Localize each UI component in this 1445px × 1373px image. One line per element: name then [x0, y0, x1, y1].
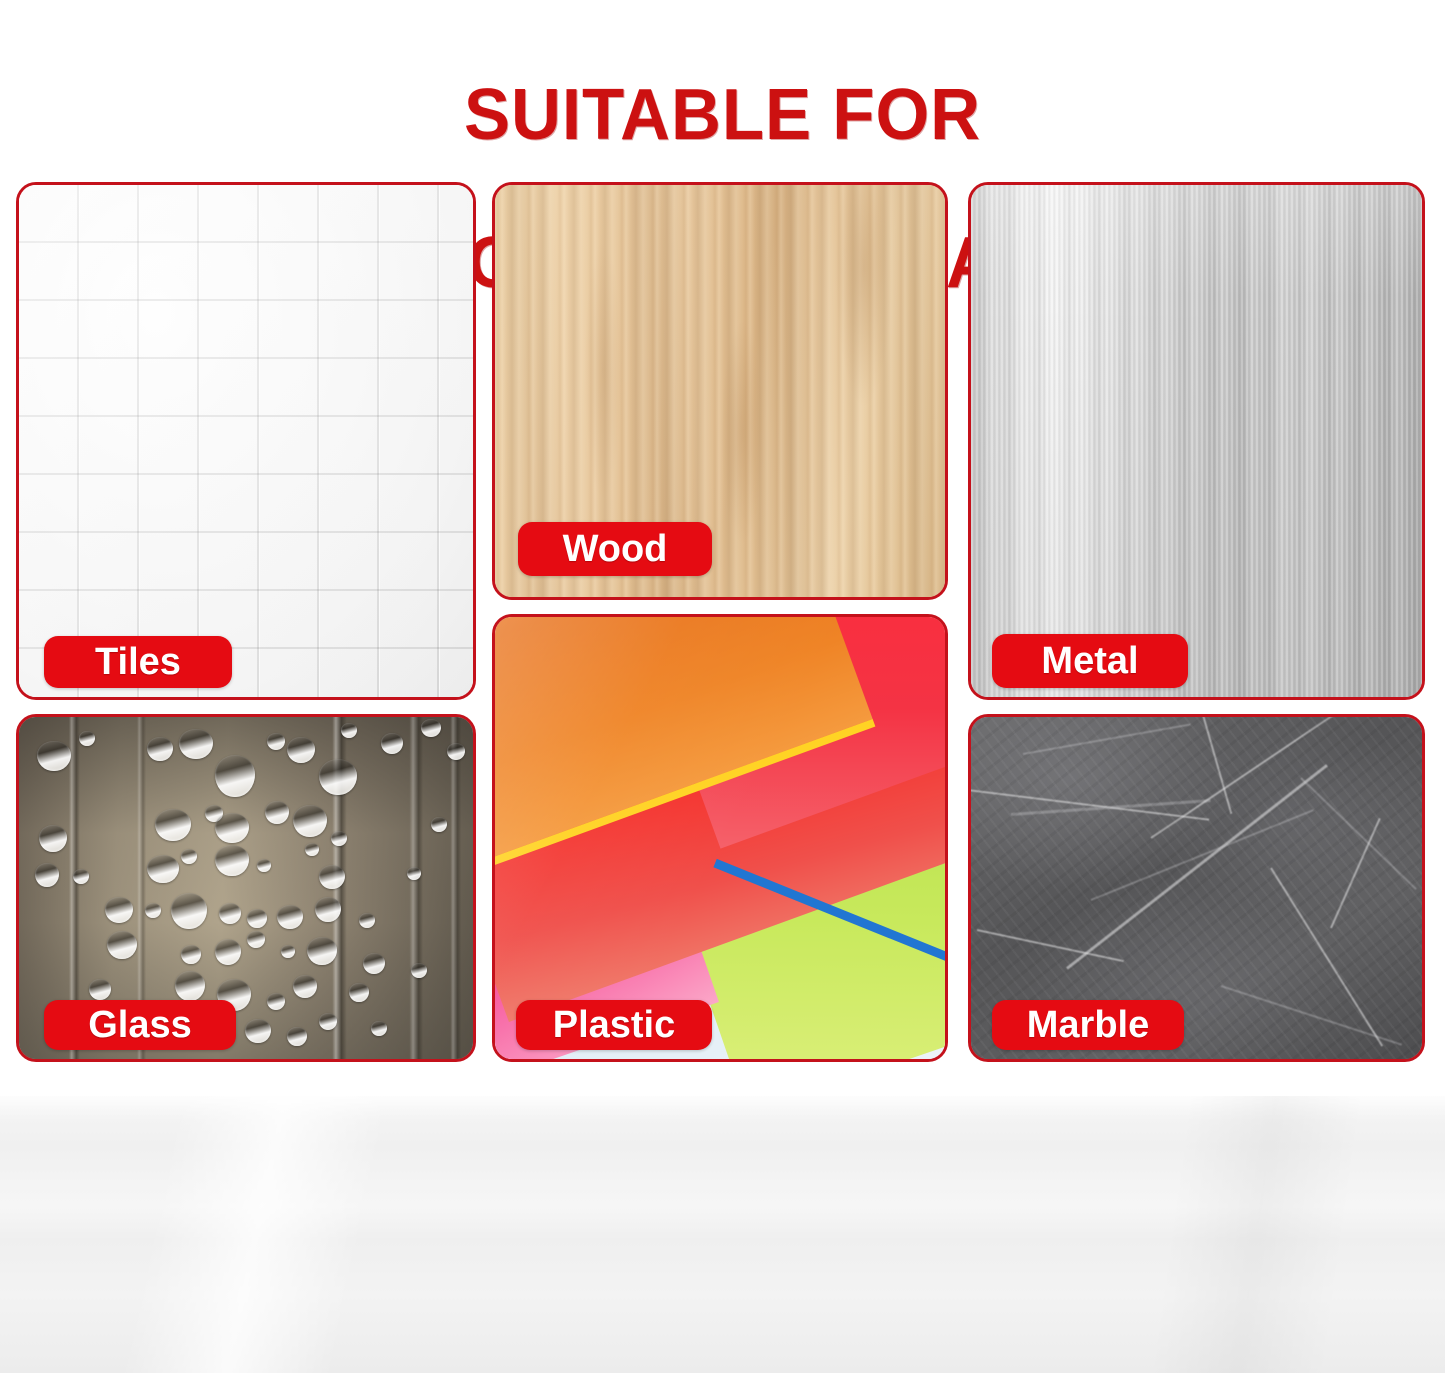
surface-label-metal: Metal [992, 634, 1188, 688]
surface-panel-grid [0, 0, 1445, 1080]
surface-panel-tiles [16, 182, 476, 700]
tiles-texture [19, 185, 473, 697]
surface-label-wood: Wood [518, 522, 712, 576]
surface-panel-metal [968, 182, 1425, 700]
surface-label-glass: Glass [44, 1000, 236, 1050]
surface-panel-plastic [492, 614, 948, 1062]
metal-texture [971, 185, 1422, 697]
product-strip-sheen [0, 1096, 1445, 1373]
plastic-texture [495, 617, 945, 1059]
product-strip [0, 1096, 1445, 1373]
surface-label-tiles: Tiles [44, 636, 232, 688]
surface-label-marble: Marble [992, 1000, 1184, 1050]
surface-label-plastic: Plastic [516, 1000, 712, 1050]
